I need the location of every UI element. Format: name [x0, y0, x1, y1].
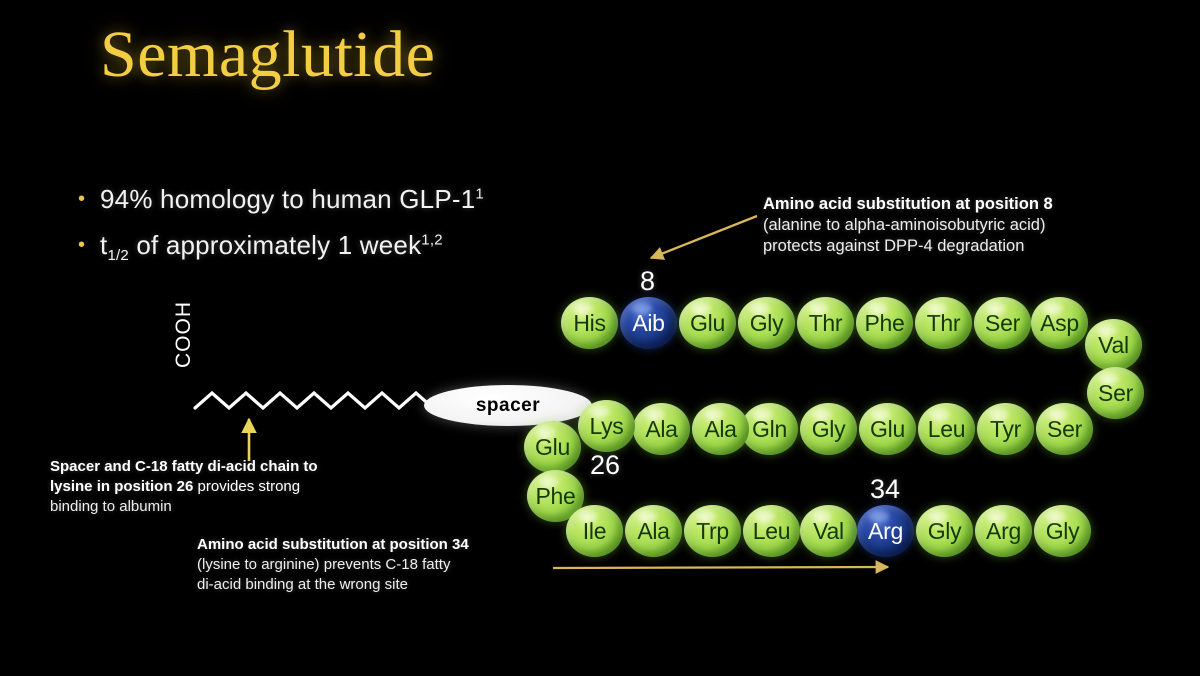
annotation-line-2: (alanine to alpha-aminoisobutyric acid) — [763, 215, 1053, 236]
residue-ser-7[interactable]: Ser — [974, 297, 1031, 349]
annotation-position-34: Amino acid substitution at position 34 (… — [197, 535, 469, 595]
position-label-8: 8 — [640, 266, 655, 297]
residue-ile-22[interactable]: Ile — [566, 505, 623, 557]
residue-gly-28[interactable]: Gly — [916, 505, 973, 557]
annotation-position-8: Amino acid substitution at position 8 (a… — [763, 194, 1053, 257]
residue-label: Trp — [696, 518, 729, 545]
annotation-line-1: Amino acid substitution at position 8 — [763, 194, 1053, 215]
residue-ser-10[interactable]: Ser — [1087, 367, 1144, 419]
residue-glu-2[interactable]: Glu — [679, 297, 736, 349]
residue-label: Val — [1098, 332, 1129, 359]
residue-label: Ser — [985, 310, 1020, 337]
residue-aib-1[interactable]: Aib — [620, 297, 677, 349]
residue-thr-6[interactable]: Thr — [915, 297, 972, 349]
annotation-line-3: binding to albumin — [50, 497, 318, 517]
bullet-text: t1/2 of approximately 1 week1,2 — [100, 228, 443, 262]
arrow-to-position-34 — [553, 567, 888, 568]
residue-label: Tyr — [990, 416, 1021, 443]
bullet-superscript: 1,2 — [421, 231, 442, 248]
residue-phe-5[interactable]: Phe — [856, 297, 913, 349]
residue-ala-23[interactable]: Ala — [625, 505, 682, 557]
annotation-line-2: lysine in position 26 provides strong — [50, 477, 318, 497]
residue-label: Arg — [986, 518, 1021, 545]
residue-val-26[interactable]: Val — [800, 505, 857, 557]
residue-label: Ala — [637, 518, 669, 545]
residue-arg-29[interactable]: Arg — [975, 505, 1032, 557]
residue-leu-25[interactable]: Leu — [743, 505, 800, 557]
residue-arg-27[interactable]: Arg — [857, 505, 914, 557]
residue-label: Phe — [535, 483, 575, 510]
annotation-line-3: protects against DPP-4 degradation — [763, 236, 1053, 257]
annotation-spacer-c18: Spacer and C-18 fatty di-acid chain to l… — [50, 457, 318, 517]
residue-label: Leu — [928, 416, 965, 443]
residue-label: Lys — [589, 413, 623, 440]
residue-leu-13[interactable]: Leu — [918, 403, 975, 455]
annotation-line-1: Amino acid substitution at position 34 — [197, 535, 469, 555]
residue-glu-14[interactable]: Glu — [859, 403, 916, 455]
position-label-34: 34 — [870, 474, 900, 505]
residue-label: Gly — [1046, 518, 1080, 545]
residue-label: Gln — [752, 416, 787, 443]
residue-label: Leu — [753, 518, 790, 545]
residue-lys-19[interactable]: Lys — [578, 400, 635, 452]
residue-label: Gly — [928, 518, 962, 545]
annotation-line-2-bold: lysine in position 26 — [50, 478, 193, 495]
residue-label: Glu — [690, 310, 725, 337]
residue-tyr-12[interactable]: Tyr — [977, 403, 1034, 455]
page-title: Semaglutide — [100, 22, 435, 88]
residue-asp-8[interactable]: Asp — [1031, 297, 1088, 349]
residue-label: Thr — [809, 310, 843, 337]
bullet-subscript: 1/2 — [107, 247, 128, 264]
residue-label: Ser — [1047, 416, 1082, 443]
residue-label: Phe — [864, 310, 904, 337]
residue-label: Ala — [704, 416, 736, 443]
bullet-superscript: 1 — [475, 185, 484, 202]
bullet-text-main: 94% homology to human GLP-1 — [100, 184, 475, 214]
position-label-26: 26 — [590, 450, 620, 481]
annotation-line-2-rest: provides strong — [193, 478, 300, 495]
slide-canvas: Semaglutide • 94% homology to human GLP-… — [0, 0, 1200, 676]
bullet-text: 94% homology to human GLP-11 — [100, 182, 484, 216]
residue-label: Glu — [535, 434, 570, 461]
residue-label: Ser — [1098, 380, 1133, 407]
bullet-dot-icon: • — [78, 182, 100, 216]
residue-gln-16[interactable]: Gln — [741, 403, 798, 455]
residue-label: Glu — [870, 416, 905, 443]
annotation-line-1: Spacer and C-18 fatty di-acid chain to — [50, 457, 318, 477]
spacer-label: spacer — [424, 385, 592, 426]
bullet-text-main: of approximately 1 week — [129, 230, 421, 260]
cooh-label: COOH — [172, 301, 196, 368]
residue-label: Gly — [750, 310, 784, 337]
residue-ala-17[interactable]: Ala — [692, 403, 749, 455]
residue-label: Thr — [927, 310, 961, 337]
residue-gly-30[interactable]: Gly — [1034, 505, 1091, 557]
residue-label: Val — [813, 518, 844, 545]
residue-thr-4[interactable]: Thr — [797, 297, 854, 349]
residue-gly-3[interactable]: Gly — [738, 297, 795, 349]
list-item: • 94% homology to human GLP-11 — [78, 182, 484, 216]
bullet-list: • 94% homology to human GLP-11 • t1/2 of… — [78, 182, 484, 274]
residue-trp-24[interactable]: Trp — [684, 505, 741, 557]
residue-label: Asp — [1040, 310, 1079, 337]
residue-label: Ile — [583, 518, 606, 545]
bullet-dot-icon: • — [78, 228, 100, 262]
annotation-line-2: (lysine to arginine) prevents C-18 fatty — [197, 555, 469, 575]
residue-val-9[interactable]: Val — [1085, 319, 1142, 371]
residue-label: Aib — [632, 310, 664, 337]
residue-his-0[interactable]: His — [561, 297, 618, 349]
annotation-line-3: di-acid binding at the wrong site — [197, 575, 469, 595]
residue-label: Gly — [812, 416, 846, 443]
residue-label: His — [573, 310, 605, 337]
arrow-to-position-8 — [651, 216, 757, 258]
list-item: • t1/2 of approximately 1 week1,2 — [78, 228, 484, 262]
residue-label: Arg — [868, 518, 903, 545]
residue-ala-18[interactable]: Ala — [633, 403, 690, 455]
residue-gly-15[interactable]: Gly — [800, 403, 857, 455]
residue-label: Ala — [645, 416, 677, 443]
residue-glu-20[interactable]: Glu — [524, 421, 581, 473]
residue-ser-11[interactable]: Ser — [1036, 403, 1093, 455]
